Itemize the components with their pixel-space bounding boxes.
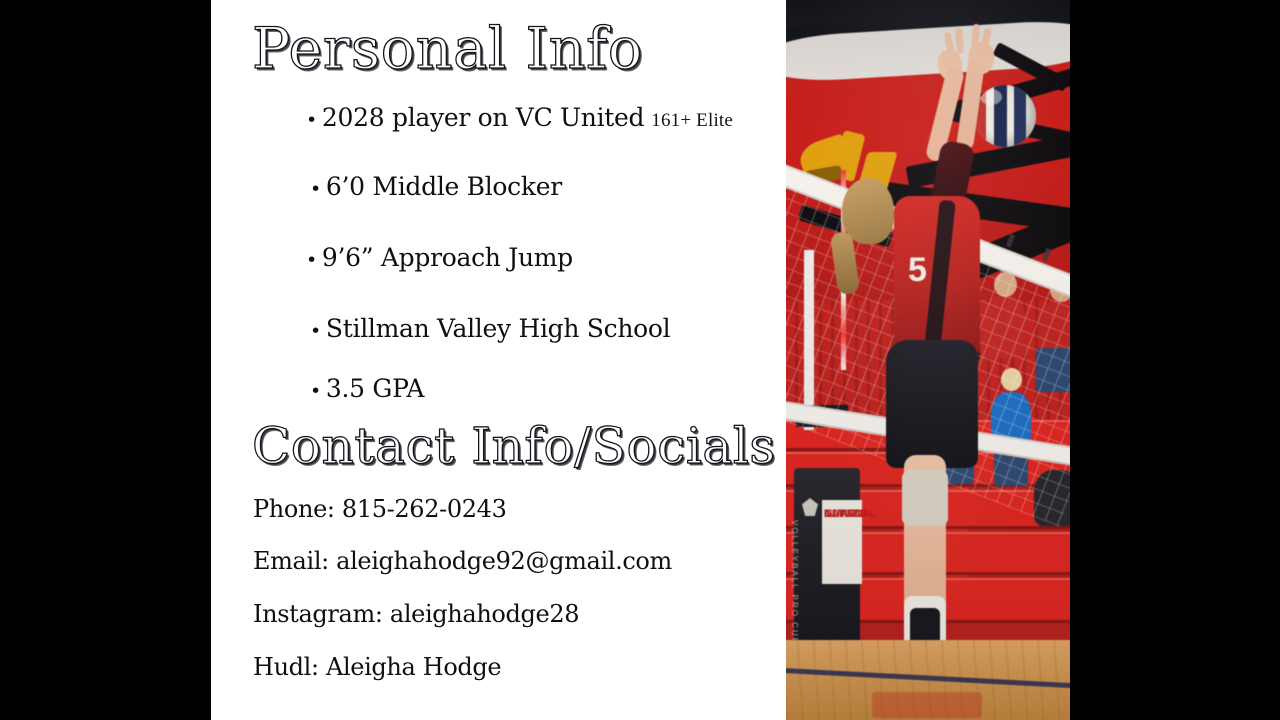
list-item: • Stillman Valley High School bbox=[310, 314, 670, 343]
bullet-icon: • bbox=[306, 251, 317, 270]
action-photo: 5 ILLINOIS NATIONAL GUARD VOLLEYBALL PRO… bbox=[786, 0, 1070, 720]
letterbox-bar-left bbox=[0, 0, 211, 720]
bullet-icon: • bbox=[310, 180, 321, 199]
contact-instagram: Instagram: aleighahodge28 bbox=[253, 600, 579, 628]
bullet-icon: • bbox=[310, 322, 321, 341]
jersey-number: 5 bbox=[908, 250, 924, 290]
volleyball-icon bbox=[974, 85, 1036, 147]
list-item: • 2028 player on VC United 161+ Elite bbox=[306, 103, 733, 132]
bullet-icon: • bbox=[306, 111, 317, 130]
list-item: • 6’0 Middle Blocker bbox=[310, 172, 562, 201]
ball-highlight bbox=[980, 89, 1002, 105]
list-item-label: 6’0 Middle Blocker bbox=[326, 172, 562, 201]
pad-vertical-text: VOLLEYBALL PRO CUP bbox=[790, 520, 799, 640]
list-item: • 9’6” Approach Jump bbox=[306, 243, 573, 272]
list-item: • 3.5 GPA bbox=[310, 374, 424, 403]
list-item-label: 3.5 GPA bbox=[326, 374, 424, 403]
contact-phone: Phone: 815-262-0243 bbox=[253, 495, 507, 523]
slide-canvas: Personal Info • 2028 player on VC United… bbox=[0, 0, 1280, 720]
contact-email: Email: aleighahodge92@gmail.com bbox=[253, 547, 672, 575]
info-panel: Personal Info • 2028 player on VC United… bbox=[211, 0, 786, 720]
gym-floor-logo bbox=[872, 692, 982, 718]
knee-pad bbox=[902, 470, 948, 526]
contact-hudl: Hudl: Aleigha Hodge bbox=[253, 653, 501, 681]
list-item-suffix: 161+ Elite bbox=[651, 110, 733, 132]
list-item-label: Stillman Valley High School bbox=[326, 314, 670, 343]
bullet-icon: • bbox=[310, 382, 321, 401]
ball-panel-navy bbox=[1014, 85, 1026, 147]
page-title-contact-info: Contact Info/Socials bbox=[252, 421, 776, 471]
pad-banner-line3: GUARD bbox=[824, 508, 862, 521]
page-title-personal-info: Personal Info bbox=[252, 21, 643, 78]
letterbox-bar-right bbox=[1070, 0, 1280, 720]
list-item-label: 2028 player on VC United bbox=[322, 103, 644, 132]
list-item-label: 9’6” Approach Jump bbox=[322, 243, 573, 272]
player-shorts bbox=[886, 340, 978, 468]
